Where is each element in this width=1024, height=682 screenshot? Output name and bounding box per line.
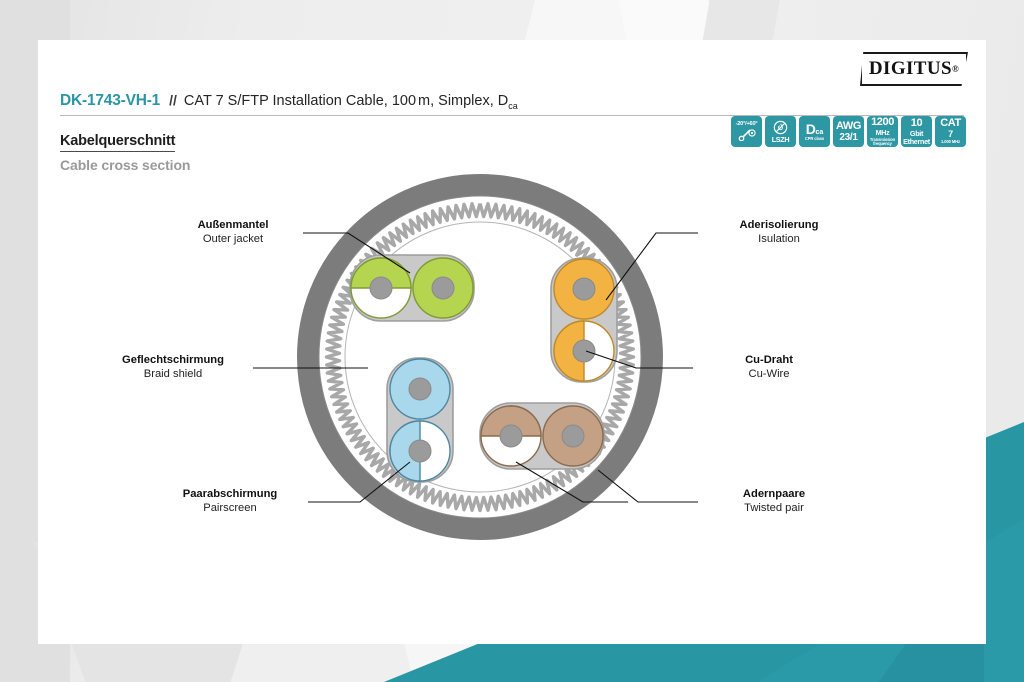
description-subscript: ca <box>508 101 518 111</box>
awg-label: AWG <box>836 121 861 132</box>
callout-cu-wire-de: Cu-Draht <box>704 353 834 367</box>
green-conductor <box>413 258 473 318</box>
cu-wire <box>573 340 595 362</box>
category-value: 7 <box>948 130 953 139</box>
callout-cu-wire-en: Cu-Wire <box>704 367 834 382</box>
product-sku: DK-1743-VH-1 <box>60 92 160 110</box>
lszh-label: LSZH <box>772 136 790 143</box>
callout-pairscreen-de: Paarabschirmung <box>156 487 304 501</box>
title-separator: // <box>169 92 177 108</box>
lszh-badge: LSZH <box>765 116 796 147</box>
callout-pairscreen-en: Pairscreen <box>156 501 304 516</box>
callout-twisted-pair: Adernpaare Twisted pair <box>704 487 844 516</box>
cu-wire <box>409 440 431 462</box>
brown-conductor <box>543 406 603 466</box>
section-heading: Kabelquerschnitt Cable cross section <box>60 132 190 173</box>
green-pair <box>350 255 474 321</box>
frequency-value: 1200 <box>871 117 894 128</box>
orange-pair <box>551 258 617 382</box>
awg-badge: AWG 23/1 <box>833 116 864 147</box>
logo-name: DIGITUS <box>869 58 952 80</box>
callout-braid-shield-en: Braid shield <box>98 367 248 382</box>
callout-outer-jacket-en: Outer jacket <box>168 232 298 247</box>
frequency-caption: Transmission frequency <box>867 138 898 146</box>
content-card: DIGITUS® DK-1743-VH-1 // CAT 7 S/FTP Ins… <box>38 40 986 644</box>
ethernet-speed: 10 <box>911 118 922 129</box>
cpr-class-badge: Dca CPR class <box>799 116 830 147</box>
blue-white-conductor <box>390 421 450 481</box>
blue-conductor <box>390 359 450 419</box>
callout-twisted-pair-en: Twisted pair <box>704 501 844 516</box>
cu-wire <box>370 277 392 299</box>
cu-wire <box>573 278 595 300</box>
callout-outer-jacket: Außenmantel Outer jacket <box>168 218 298 247</box>
frequency-unit: MHz <box>876 129 890 136</box>
no-flame-icon <box>773 120 788 135</box>
description-main: CAT 7 S/FTP Installation Cable, 100 <box>184 93 416 109</box>
thermometer-icon <box>735 128 759 141</box>
callout-pairscreen: Paarabschirmung Pairscreen <box>156 487 304 516</box>
callout-insulation: Aderisolierung Isulation <box>704 218 854 247</box>
cu-wire <box>432 277 454 299</box>
section-title-de: Kabelquerschnitt <box>60 133 175 152</box>
registered-mark: ® <box>952 64 959 74</box>
callout-twisted-pair-de: Adernpaare <box>704 487 844 501</box>
cu-wire <box>409 378 431 400</box>
category-frequency: 1.000 MHz <box>941 140 960 144</box>
cu-wire <box>500 425 522 447</box>
callout-outer-jacket-de: Außenmantel <box>168 218 298 232</box>
callout-cu-wire: Cu-Draht Cu-Wire <box>704 353 834 382</box>
logo-wordmark: DIGITUS® <box>860 52 968 86</box>
green-white-conductor <box>351 258 411 318</box>
product-title-row: DK-1743-VH-1 // CAT 7 S/FTP Installation… <box>60 92 964 116</box>
cpr-class-label: CPR class <box>805 137 824 141</box>
cable-cross-section-diagram: Außenmantel Outer jacket Geflechtschirmu… <box>38 170 986 590</box>
orange-conductor <box>554 259 614 319</box>
category-label: CAT <box>940 118 961 129</box>
callout-insulation-en: Isulation <box>704 232 854 247</box>
cpr-class-letter: D <box>806 122 816 136</box>
orange-white-conductor <box>554 321 614 381</box>
feature-badges: -20°/+60° LSZH Dca CPR class AWG <box>731 116 966 147</box>
callout-insulation-de: Aderisolierung <box>704 218 854 232</box>
callout-braid-shield: Geflechtschirmung Braid shield <box>98 353 248 382</box>
cpr-class-subscript: ca <box>815 129 823 136</box>
product-description: CAT 7 S/FTP Installation Cable, 100m, Si… <box>184 93 518 111</box>
temperature-range-badge: -20°/+60° <box>731 116 762 147</box>
awg-value: 23/1 <box>839 133 857 143</box>
ethernet-unit: Gbit <box>910 130 923 137</box>
ethernet-label: Ethernet <box>903 138 930 145</box>
callout-braid-shield-de: Geflechtschirmung <box>98 353 248 367</box>
category-badge: CAT 7 1.000 MHz <box>935 116 966 147</box>
blue-pair <box>387 358 453 482</box>
ethernet-badge: 10 Gbit Ethernet <box>901 116 932 147</box>
brown-pair <box>480 403 604 469</box>
brown-white-conductor <box>481 406 541 466</box>
cu-wire <box>562 425 584 447</box>
digitus-logo: DIGITUS® <box>860 52 968 86</box>
frequency-badge: 1200 MHz Transmission frequency <box>867 116 898 147</box>
description-unit: m, Simplex, D <box>418 93 508 109</box>
